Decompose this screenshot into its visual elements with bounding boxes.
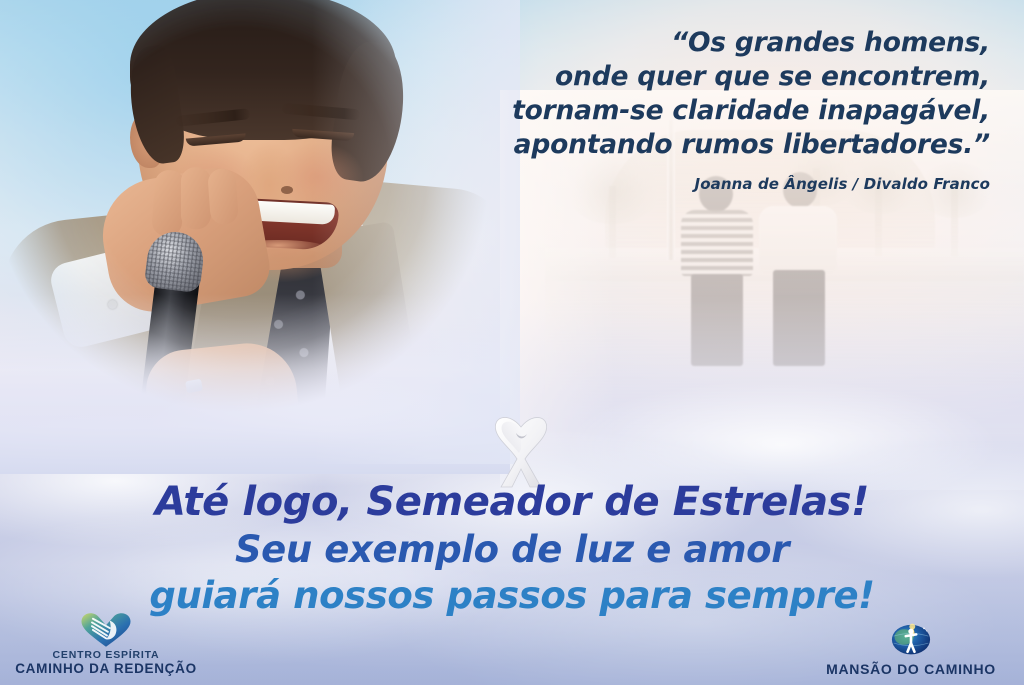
quote-block: “Os grandes homens, onde quer que se enc… xyxy=(370,26,990,193)
memorial-poster: “Os grandes homens, onde quer que se enc… xyxy=(0,0,1024,685)
white-ribbon-icon xyxy=(486,407,556,489)
message-line-2: Seu exemplo de luz e amor xyxy=(0,531,1024,568)
quote-attribution: Joanna de Ângelis / Divaldo Franco xyxy=(370,175,990,193)
logo-left-line2: CAMINHO DA REDENÇÃO xyxy=(6,661,206,677)
globe-torch-icon xyxy=(806,616,1016,658)
logo-mansao-do-caminho: MANSÃO DO CAMINHO xyxy=(806,616,1016,677)
heart-hands-icon xyxy=(6,607,206,649)
quote-line-1: “Os grandes homens, xyxy=(370,26,990,60)
logo-left-line1: CENTRO ESPÍRITA xyxy=(6,649,206,661)
message-line-1: Até logo, Semeador de Estrelas! xyxy=(0,482,1024,522)
quote-line-4: apontando rumos libertadores.” xyxy=(370,128,990,162)
quote-line-2: onde quer que se encontrem, xyxy=(370,60,990,94)
memorial-message: Até logo, Semeador de Estrelas! Seu exem… xyxy=(0,482,1024,614)
quote-line-3: tornam-se claridade inapagável, xyxy=(370,94,990,128)
logo-right-line1: MANSÃO DO CAMINHO xyxy=(806,661,1016,677)
logo-centro-espirita-caminho-da-redencao: CENTRO ESPÍRITA CAMINHO DA REDENÇÃO xyxy=(6,607,206,677)
